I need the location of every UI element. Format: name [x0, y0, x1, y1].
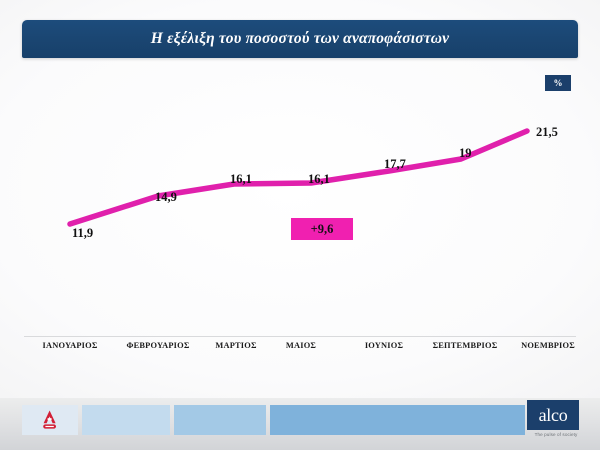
data-label-1: 14,9 — [155, 190, 177, 205]
slide-footer — [0, 398, 600, 450]
x-tick-label-5: ΣΕΠΤΕΜΒΡΙΟΣ — [433, 341, 498, 350]
x-axis-category-labels: ΙΑΝΟΥΑΡΙΟΣ ΦΕΒΡΟΥΑΡΙΟΣ ΜΑΡΤΙΟΣ ΜΑΙΟΣ ΙΟΥ… — [24, 341, 576, 357]
data-label-0: 11,9 — [72, 226, 93, 241]
x-tick-label-3: ΜΑΙΟΣ — [286, 341, 316, 350]
alco-logo-tagline: The pulse of society — [527, 432, 585, 437]
data-label-6: 21,5 — [536, 125, 558, 140]
x-tick-label-1: ΦΕΒΡΟΥΑΡΙΟΣ — [126, 341, 189, 350]
slide-canvas: Η εξέλιξη του ποσοστού των αναποφάσιστων… — [0, 0, 600, 450]
footer-segment-4 — [270, 405, 525, 435]
alco-a-mark-icon — [40, 409, 60, 431]
unit-badge-label: % — [554, 78, 563, 88]
data-label-5: 19 — [459, 146, 472, 161]
delta-annotation-label: +9,6 — [311, 222, 334, 237]
x-axis-line — [24, 336, 576, 337]
x-tick-label-0: ΙΑΝΟΥΑΡΙΟΣ — [43, 341, 98, 350]
data-label-4: 17,7 — [384, 157, 406, 172]
data-label-2: 16,1 — [230, 172, 252, 187]
page-title: Η εξέλιξη του ποσοστού των αναποφάσιστων — [151, 30, 449, 48]
alco-logo-text: alco — [539, 406, 568, 424]
x-tick-label-2: ΜΑΡΤΙΟΣ — [215, 341, 256, 350]
series-line-undecided — [70, 131, 527, 224]
footer-segment-2 — [82, 405, 170, 435]
slide-title-bar: Η εξέλιξη του ποσοστού των αναποφάσιστων — [22, 20, 578, 58]
footer-segment-3 — [174, 405, 266, 435]
delta-annotation-badge: +9,6 — [291, 218, 353, 240]
data-label-3: 16,1 — [308, 172, 330, 187]
x-tick-label-4: ΙΟΥΝΙΟΣ — [365, 341, 403, 350]
unit-badge-percent: % — [545, 75, 571, 91]
x-tick-label-6: ΝΟΕΜΒΡΙΟΣ — [521, 341, 575, 350]
alco-logo: alco — [527, 400, 579, 430]
